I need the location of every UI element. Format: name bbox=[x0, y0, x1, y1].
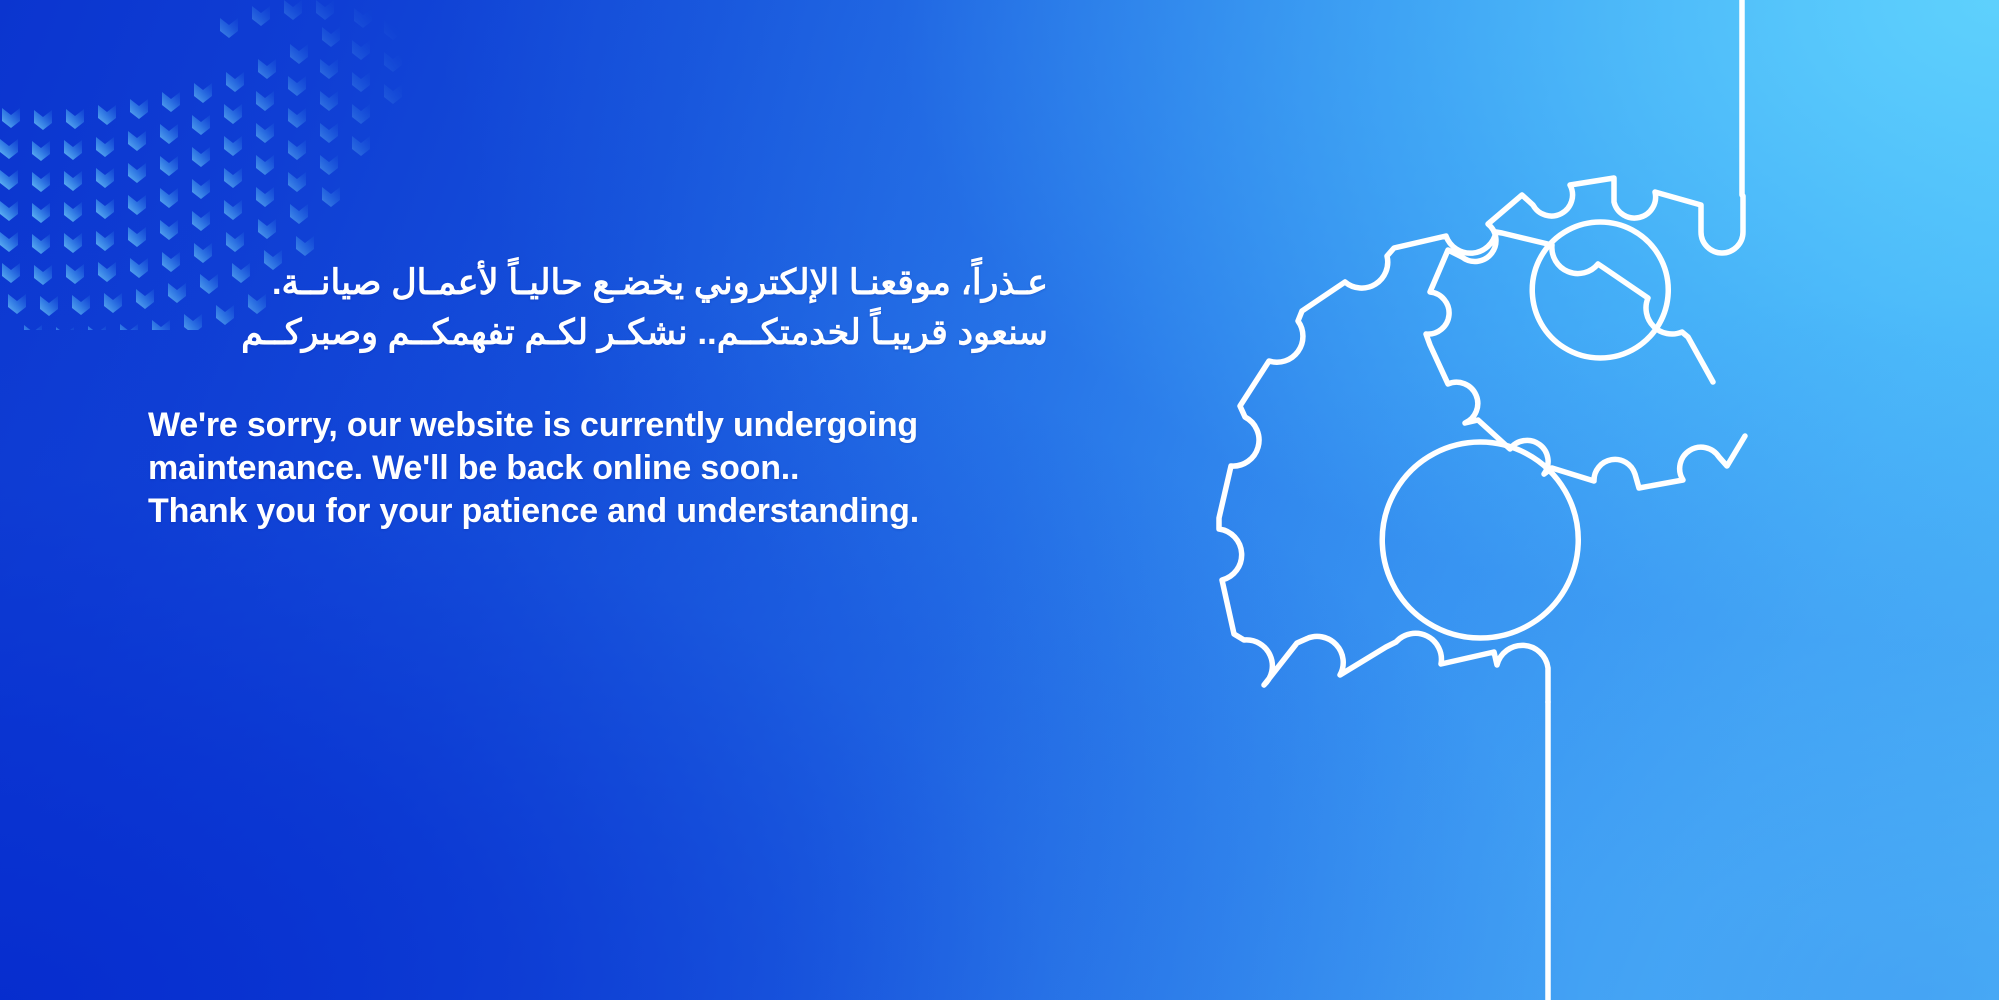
english-line-1: We're sorry, our website is currently un… bbox=[148, 404, 1048, 447]
message-spacer bbox=[148, 358, 1048, 404]
maintenance-page: عـذراً، موقعنـا الإلكتروني يخضـع حاليـاً… bbox=[0, 0, 1999, 1000]
english-line-3: Thank you for your patience and understa… bbox=[148, 490, 1048, 533]
arabic-line-1: عـذراً، موقعنـا الإلكتروني يخضـع حاليـاً… bbox=[148, 258, 1048, 308]
english-message: We're sorry, our website is currently un… bbox=[148, 404, 1048, 533]
english-line-2: maintenance. We'll be back online soon.. bbox=[148, 447, 1048, 490]
arabic-message: عـذراً، موقعنـا الإلكتروني يخضـع حاليـاً… bbox=[148, 258, 1048, 358]
message-block: عـذراً، موقعنـا الإلكتروني يخضـع حاليـاً… bbox=[148, 258, 1048, 533]
arabic-line-2: سنعود قريبـاً لخدمتكــم.. نشكـر لكـم تفه… bbox=[148, 308, 1048, 358]
